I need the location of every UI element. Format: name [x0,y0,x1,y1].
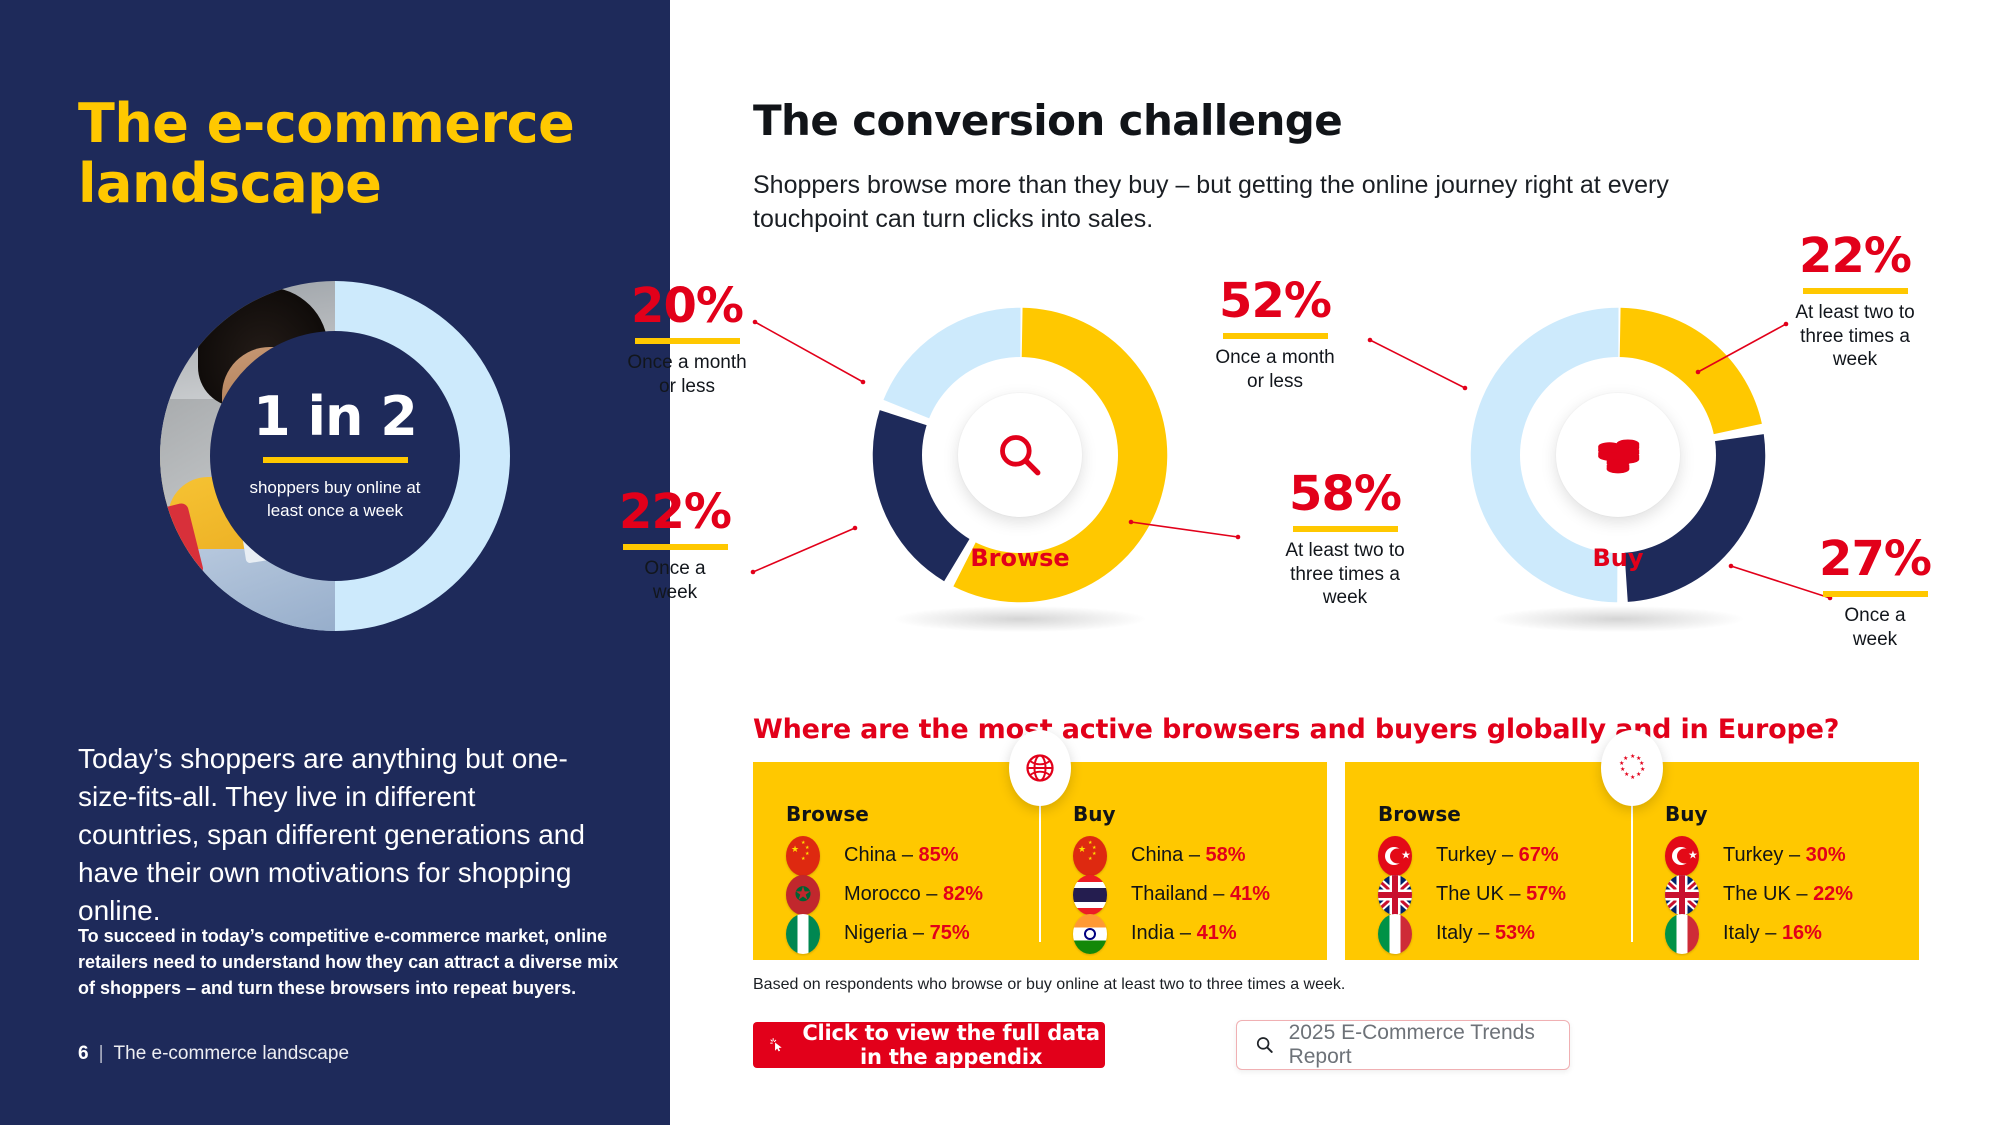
row-text: The UK – 22% [1723,883,1853,906]
browse-callout-two-to-three: 58% At least two to three times a week [1250,470,1440,610]
list-item: ✪ Morocco – 82% [786,875,1040,914]
callout-line2: week [580,581,770,605]
list-item: ★ Turkey – 30% [1665,836,1919,875]
view-full-data-button[interactable]: Click to view the full data in the appen… [753,1022,1105,1068]
buy-callout-two-to-three: 22% At least two to three times a week [1760,232,1950,372]
flag-thailand-icon [1073,875,1107,915]
callout-line1: At least two to [1250,539,1440,563]
left-body-paragraph: To succeed in today’s competitive e-comm… [78,923,638,1001]
row-dash: – [1183,844,1205,866]
flag-turkey-icon: ★ [1665,836,1699,876]
country-name: The UK [1723,883,1791,905]
browse-leader-22 [745,490,1045,600]
callout-rule [635,338,740,344]
row-dash: – [1208,883,1230,905]
row-text: Italy – 16% [1723,922,1822,945]
flag-italy-icon [1665,914,1699,954]
country-name: China [1131,844,1183,866]
hero-stat-value: 1 in 2 [253,390,417,444]
row-dash: – [896,844,918,866]
card-column-heading: Browse [1378,802,1632,826]
callout-pct: 22% [580,488,770,536]
row-value: 75% [930,922,970,944]
browse-leader-20 [745,310,1045,430]
cursor-click-icon [770,1033,785,1057]
magnifier-icon [995,430,1045,480]
card-column-heading: Browse [786,802,1040,826]
row-value: 30% [1806,844,1846,866]
svg-text:★: ★ [1630,753,1635,760]
row-value: 82% [943,883,983,905]
callout-line3: week [1760,348,1950,372]
callout-rule [623,544,728,550]
footer: 6 | The e-commerce landscape [78,1043,349,1065]
country-name: Italy [1436,922,1473,944]
row-value: 53% [1495,922,1535,944]
row-dash: – [1791,883,1813,905]
buy-center-badge [1556,393,1680,517]
row-value: 85% [919,844,959,866]
callout-rule [1223,333,1328,339]
card-column-browse: Browse ★ Turkey – 67% The UK – 57% Italy… [1345,762,1632,960]
row-value: 16% [1782,922,1822,944]
footer-section-label: The e-commerce landscape [114,1043,350,1065]
flag-china-icon: ★★★★★ [1073,836,1107,876]
flag-nigeria-icon [786,914,820,954]
hero-stat-caption: shoppers buy online at least once a week [235,477,435,521]
search-icon [1255,1034,1275,1056]
row-dash: – [1504,883,1526,905]
flag-italy-icon [1378,914,1412,954]
row-dash: – [1496,844,1518,866]
row-value: 41% [1197,922,1237,944]
callout-line1: At least two to [1760,301,1950,325]
callout-line2: or less [1175,370,1375,394]
row-value: 67% [1519,844,1559,866]
country-name: Thailand [1131,883,1208,905]
country-name: Nigeria [844,922,907,944]
card-column-heading: Buy [1665,802,1919,826]
list-item: Italy – 16% [1665,914,1919,953]
country-name: The UK [1436,883,1504,905]
flag-china-icon: ★★★★★ [786,836,820,876]
country-name: India [1131,922,1174,944]
footer-separator: | [99,1043,104,1065]
list-item: The UK – 57% [1378,875,1632,914]
row-value: 57% [1526,883,1566,905]
row-dash: – [1760,922,1782,944]
page-title: The e-commerce landscape [78,94,618,215]
buy-callout-once-a-month: 52% Once a month or less [1175,277,1375,393]
row-text: Thailand – 41% [1131,883,1270,906]
callout-rule [1803,288,1908,294]
row-value: 58% [1206,844,1246,866]
callout-line2: three times a [1250,563,1440,587]
hero-stat-rule [263,457,408,463]
callout-pct: 20% [587,282,787,330]
list-item: Nigeria – 75% [786,914,1040,953]
row-text: Turkey – 30% [1723,844,1846,867]
browse-callout-once-a-week: 22% Once a week [580,488,770,604]
country-name: China [844,844,896,866]
hero-stat-circle: 1 in 2 shoppers buy online at least once… [210,331,460,581]
section-subtitle: Shoppers browse more than they buy – but… [753,168,1743,236]
page-number: 6 [78,1043,89,1065]
left-panel: The e-commerce landscape 1 in 2 shoppers… [0,0,670,1125]
left-lead-paragraph: Today’s shoppers are anything but one-si… [78,740,598,930]
list-item: ★★★★★ China – 58% [1073,836,1327,875]
list-item: Italy – 53% [1378,914,1632,953]
callout-rule [1293,526,1398,532]
section-title: The conversion challenge [753,96,1342,145]
card-column-buy: Buy ★ Turkey – 30% The UK – 22% Italy – … [1632,762,1919,960]
flag-uk-icon [1665,875,1699,915]
callout-pct: 58% [1250,470,1440,518]
list-item: India – 41% [1073,914,1327,953]
flag-india-icon [1073,914,1107,954]
row-text: China – 85% [844,844,959,867]
browse-callout-once-a-month: 20% Once a month or less [587,282,787,398]
row-text: China – 58% [1131,844,1246,867]
card-column-browse: Browse ★★★★★ China – 85% ✪ Morocco – 82%… [753,762,1040,960]
row-text: India – 41% [1131,922,1237,945]
callout-line3: week [1250,586,1440,610]
callout-pct: 52% [1175,277,1375,325]
callout-line1: Once a month [1175,346,1375,370]
callout-line1: Once a month [587,351,787,375]
country-name: Turkey [1436,844,1496,866]
flag-turkey-icon: ★ [1378,836,1412,876]
row-text: Morocco – 82% [844,883,983,906]
callout-pct: 22% [1760,232,1950,280]
buy-donut-label: Buy [1592,544,1643,572]
callout-line2: or less [587,375,787,399]
row-text: Nigeria – 75% [844,922,970,945]
country-name: Turkey [1723,844,1783,866]
callout-line1: Once a [1780,604,1970,628]
search-input[interactable]: 2025 E-Commerce Trends Report [1236,1020,1570,1070]
callout-line2: three times a [1760,325,1950,349]
data-cards-heading: Where are the most active browsers and b… [753,714,1839,745]
buy-callout-once-a-week: 27% Once a week [1780,535,1970,651]
slide-page: The e-commerce landscape 1 in 2 shoppers… [0,0,2000,1125]
card-column-heading: Buy [1073,802,1327,826]
row-dash: – [907,922,929,944]
row-value: 22% [1813,883,1853,905]
row-text: The UK – 57% [1436,883,1566,906]
right-panel: The conversion challenge Shoppers browse… [670,0,2000,1125]
row-dash: – [1783,844,1805,866]
callout-pct: 27% [1780,535,1970,583]
europe-data-card: ★★★ ★★★ ★★★ ★ Browse ★ Turkey – 67% [1345,762,1919,960]
list-item: ★★★★★ China – 85% [786,836,1040,875]
list-item: The UK – 22% [1665,875,1919,914]
row-dash: – [1473,922,1495,944]
callout-line2: week [1780,628,1970,652]
list-item: Thailand – 41% [1073,875,1327,914]
row-text: Italy – 53% [1436,922,1535,945]
flag-uk-icon [1378,875,1412,915]
search-value: 2025 E-Commerce Trends Report [1289,1021,1569,1069]
cta-label: Click to view the full data in the appen… [797,1021,1105,1069]
flag-morocco-icon: ✪ [786,875,820,915]
footnote: Based on respondents who browse or buy o… [753,976,1345,994]
callout-line1: Once a [580,557,770,581]
buy-leader-52 [1360,330,1540,420]
global-data-card: Browse ★★★★★ China – 85% ✪ Morocco – 82%… [753,762,1327,960]
row-text: Turkey – 67% [1436,844,1559,867]
country-name: Italy [1723,922,1760,944]
card-column-buy: Buy ★★★★★ China – 58% Thailand – 41% Ind… [1040,762,1327,960]
hero-donut-stat: 1 in 2 shoppers buy online at least once… [160,281,510,631]
row-value: 41% [1230,883,1270,905]
row-dash: – [921,883,943,905]
row-dash: – [1174,922,1196,944]
svg-text:★: ★ [1623,755,1628,762]
list-item: ★ Turkey – 67% [1378,836,1632,875]
country-name: Morocco [844,883,921,905]
callout-rule [1823,591,1928,597]
coins-icon [1594,433,1642,477]
